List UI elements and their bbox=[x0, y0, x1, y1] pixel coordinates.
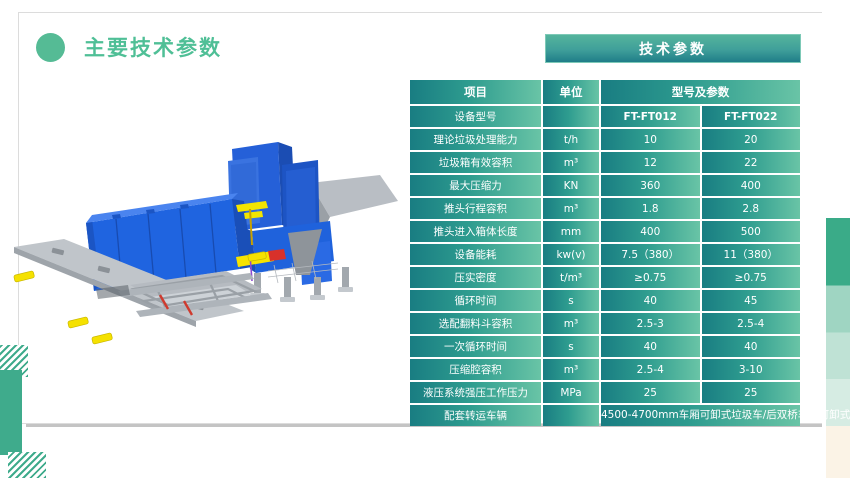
cell-item: 最大压缩力 bbox=[410, 175, 541, 196]
cell-unit bbox=[543, 405, 599, 426]
left-stripe-pattern-bottom bbox=[8, 452, 46, 478]
table-row: 压实密度t/m³≥0.75≥0.75 bbox=[410, 267, 800, 288]
garbage-compactor-3d-render bbox=[0, 105, 400, 355]
cell-value-2: 11（380） bbox=[702, 244, 801, 265]
table-header-row: 项目单位型号及参数 bbox=[410, 80, 800, 104]
right-gradient-bar bbox=[826, 218, 850, 478]
technical-parameters-table: 项目单位型号及参数设备型号FT-FT012FT-FT022理论垃圾处理能力t/h… bbox=[408, 78, 802, 428]
cell-item: 推头行程容积 bbox=[410, 198, 541, 219]
cell-unit: s bbox=[543, 336, 599, 357]
circle-bullet-icon bbox=[36, 33, 65, 62]
table-row: 推头进入箱体长度mm400500 bbox=[410, 221, 800, 242]
cell-item: 垃圾箱有效容积 bbox=[410, 152, 541, 173]
table-row: 推头行程容积m³1.82.8 bbox=[410, 198, 800, 219]
table-row: 设备能耗kw(v)7.5（380）11（380） bbox=[410, 244, 800, 265]
cell-item: 设备能耗 bbox=[410, 244, 541, 265]
cell-unit: MPa bbox=[543, 382, 599, 403]
cell-unit: m³ bbox=[543, 152, 599, 173]
cell-model-1: FT-FT012 bbox=[601, 106, 700, 127]
column-header-models: 型号及参数 bbox=[601, 80, 800, 104]
cell-value-1: ≥0.75 bbox=[601, 267, 700, 288]
cell-value-1: 40 bbox=[601, 290, 700, 311]
table-row-model: 设备型号FT-FT012FT-FT022 bbox=[410, 106, 800, 127]
table-body: 项目单位型号及参数设备型号FT-FT012FT-FT022理论垃圾处理能力t/h… bbox=[410, 80, 800, 426]
table-row: 压缩腔容积m³2.5-43-10 bbox=[410, 359, 800, 380]
cell-unit bbox=[543, 106, 599, 127]
table-row: 液压系统强压工作压力MPa2525 bbox=[410, 382, 800, 403]
cell-value-2: 500 bbox=[702, 221, 801, 242]
cell-item: 推头进入箱体长度 bbox=[410, 221, 541, 242]
cell-item: 循环时间 bbox=[410, 290, 541, 311]
column-header-item: 项目 bbox=[410, 80, 541, 104]
cell-item: 压缩腔容积 bbox=[410, 359, 541, 380]
cell-value-2: 2.5-4 bbox=[702, 313, 801, 334]
page-title: 主要技术参数 bbox=[84, 34, 222, 63]
left-accent-bar bbox=[0, 370, 22, 455]
cell-item: 选配翻料斗容积 bbox=[410, 313, 541, 334]
cell-value-1: 10 bbox=[601, 129, 700, 150]
column-header-unit: 单位 bbox=[543, 80, 599, 104]
cell-value-2: ≥0.75 bbox=[702, 267, 801, 288]
cell-value-2: 45 bbox=[702, 290, 801, 311]
cell-item: 理论垃圾处理能力 bbox=[410, 129, 541, 150]
cell-value-1: 7.5（380） bbox=[601, 244, 700, 265]
cell-value-1: 2.5-4 bbox=[601, 359, 700, 380]
cell-value-2: 22 bbox=[702, 152, 801, 173]
cell-footer-value: 4500-4700mm车厢可卸式垃圾车/后双桥车厢可卸式垃圾车 bbox=[601, 405, 800, 426]
table-row-footer: 配套转运车辆4500-4700mm车厢可卸式垃圾车/后双桥车厢可卸式垃圾车 bbox=[410, 405, 800, 426]
cell-unit: mm bbox=[543, 221, 599, 242]
table-row: 理论垃圾处理能力t/h1020 bbox=[410, 129, 800, 150]
cell-value-1: 12 bbox=[601, 152, 700, 173]
cell-unit: t/m³ bbox=[543, 267, 599, 288]
cell-value-1: 40 bbox=[601, 336, 700, 357]
cell-value-2: 25 bbox=[702, 382, 801, 403]
cell-value-1: 1.8 bbox=[601, 198, 700, 219]
cell-unit: m³ bbox=[543, 313, 599, 334]
cell-unit: kw(v) bbox=[543, 244, 599, 265]
table-row: 选配翻料斗容积m³2.5-32.5-4 bbox=[410, 313, 800, 334]
section-banner: 技术参数 bbox=[545, 34, 801, 63]
cell-model-2: FT-FT022 bbox=[702, 106, 801, 127]
cell-item: 配套转运车辆 bbox=[410, 405, 541, 426]
cell-value-2: 2.8 bbox=[702, 198, 801, 219]
cell-value-1: 2.5-3 bbox=[601, 313, 700, 334]
cell-value-1: 400 bbox=[601, 221, 700, 242]
cell-item: 液压系统强压工作压力 bbox=[410, 382, 541, 403]
table-row: 最大压缩力KN360400 bbox=[410, 175, 800, 196]
cell-unit: m³ bbox=[543, 359, 599, 380]
spec-table-wrapper: 项目单位型号及参数设备型号FT-FT012FT-FT022理论垃圾处理能力t/h… bbox=[408, 78, 802, 428]
cell-value-2: 40 bbox=[702, 336, 801, 357]
cell-item: 设备型号 bbox=[410, 106, 541, 127]
cell-unit: t/h bbox=[543, 129, 599, 150]
slide-canvas: 主要技术参数 技术参数 bbox=[0, 0, 850, 478]
cell-item: 一次循环时间 bbox=[410, 336, 541, 357]
cell-value-1: 360 bbox=[601, 175, 700, 196]
cell-unit: s bbox=[543, 290, 599, 311]
cell-value-2: 400 bbox=[702, 175, 801, 196]
cell-value-2: 3-10 bbox=[702, 359, 801, 380]
table-row: 循环时间s4045 bbox=[410, 290, 800, 311]
cell-value-2: 20 bbox=[702, 129, 801, 150]
cell-unit: m³ bbox=[543, 198, 599, 219]
table-row: 一次循环时间s4040 bbox=[410, 336, 800, 357]
table-row: 垃圾箱有效容积m³1222 bbox=[410, 152, 800, 173]
cell-unit: KN bbox=[543, 175, 599, 196]
cell-value-1: 25 bbox=[601, 382, 700, 403]
cell-item: 压实密度 bbox=[410, 267, 541, 288]
